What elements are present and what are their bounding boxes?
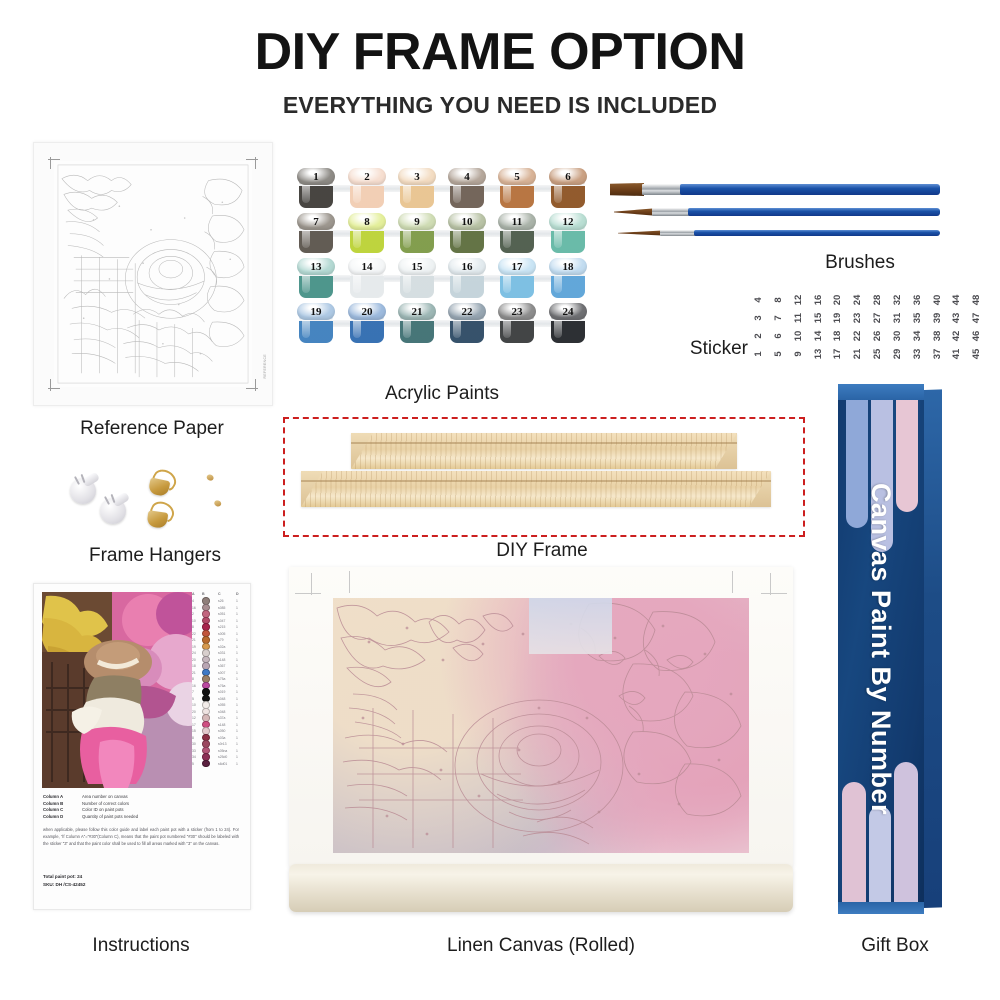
paint-pot-3: 3 [398, 168, 436, 210]
legend-cell-c: s0r13 [218, 742, 236, 746]
paint-pot-number: 2 [348, 168, 386, 185]
legend-cell-a: 20 [192, 658, 202, 662]
legend-cell-a: 18 [192, 664, 202, 668]
paint-pot-number: 14 [348, 258, 386, 275]
sticker-number: 7 [769, 308, 787, 328]
canvas-sky-region [529, 598, 612, 654]
preview-artwork-svg [42, 592, 192, 788]
d-ring-1 [148, 468, 179, 499]
paint-pot-20: 20 [348, 303, 386, 345]
paint-pot-rail [303, 185, 581, 192]
sticker-number: 22 [848, 326, 866, 346]
legend-cell-a: 15 [192, 729, 202, 733]
sticker-number-grid: 4812162024283236404448371115192327313539… [748, 291, 986, 363]
legend-cell-c: s005 [218, 632, 236, 636]
sticker-number: 34 [908, 326, 926, 346]
paint-pot-18: 18 [549, 258, 587, 300]
paint-pot-row: 192021222324 [297, 303, 587, 345]
legend-cell-d: 1 [236, 762, 244, 766]
legend-row: 34s25d01 [192, 753, 244, 760]
legend-row: 5s0481 [192, 695, 244, 702]
frame-bar-2 [301, 471, 771, 507]
legend-cell-d: 1 [236, 729, 244, 733]
legend-row: 22s0051 [192, 630, 244, 637]
paint-pot-row: 123456 [297, 168, 587, 210]
legend-cell-c: s215 [218, 625, 236, 629]
gift-box-label: Canvas Paint By Number [838, 384, 924, 914]
legend-row: 21s791 [192, 636, 244, 643]
paint-pot-number: 17 [498, 258, 536, 275]
legend-cell-a: 34 [192, 755, 202, 759]
legend-cell-a: 10 [192, 619, 202, 623]
legend-header-d: D [236, 592, 244, 596]
legend-cell-a: 8 [192, 625, 202, 629]
legend-row: 10s0551 [192, 701, 244, 708]
paint-pot-rail [303, 230, 581, 237]
sticker-number: 16 [808, 290, 826, 310]
sticker-number: 35 [908, 308, 926, 328]
canvas-rolled-edge [289, 864, 793, 912]
brush-bristle-fine [618, 230, 662, 236]
caption-instructions: Instructions [33, 935, 249, 957]
paint-pot-rail [303, 275, 581, 282]
diy-frame-highlight [283, 417, 805, 537]
legend-row: 33s05na1 [192, 747, 244, 754]
sticker-number: 44 [947, 290, 965, 310]
legend-cell-a: 4 [192, 599, 202, 603]
sticker-number: 28 [868, 290, 886, 310]
caption-frame-hangers: Frame Hangers [55, 545, 255, 567]
canvas-sheet [289, 567, 793, 867]
legend-cell-a: 16 [192, 684, 202, 688]
sticker-number: 12 [789, 290, 807, 310]
legend-cell-d: 1 [236, 710, 244, 714]
paint-pot-row: 131415161718 [297, 258, 587, 300]
caption-acrylic-paints: Acrylic Paints [297, 383, 587, 405]
paint-pot-8: 8 [348, 213, 386, 255]
sticker-number: 47 [967, 308, 985, 328]
total-paint-pot-label: Total paint pot: [43, 874, 76, 879]
instruction-column-key: Column A [43, 794, 77, 801]
legend-cell-a: 8 [192, 736, 202, 740]
legend-cell-a: 16 [192, 606, 202, 610]
paint-pot-number: 3 [398, 168, 436, 185]
sticker-number: 45 [967, 344, 985, 364]
sticker-number: 48 [967, 290, 985, 310]
legend-row: 30s0r131 [192, 740, 244, 747]
sticker-number: 10 [789, 326, 807, 346]
legend-cell-c: s05na [218, 749, 236, 753]
sticker-number: 19 [828, 308, 846, 328]
instruction-column-key: Column B [43, 801, 77, 808]
sticker-number: 38 [927, 326, 945, 346]
legend-row: 7s0191 [192, 688, 244, 695]
legend-cell-d: 1 [236, 599, 244, 603]
sticker-number: 9 [789, 344, 807, 364]
paint-pot-number: 18 [549, 258, 587, 275]
legend-cell-a: 10 [192, 703, 202, 707]
paint-pot-5: 5 [498, 168, 536, 210]
paint-pot-number: 11 [498, 213, 536, 230]
paint-pot-1: 1 [297, 168, 335, 210]
legend-cell-a: 21 [192, 671, 202, 675]
legend-row: 20s0481 [192, 708, 244, 715]
sticker-number: 39 [927, 308, 945, 328]
legend-row: 15s0501 [192, 727, 244, 734]
legend-row: 8s03a1 [192, 734, 244, 741]
legend-cell-a: 33 [192, 749, 202, 753]
sticker-number: 21 [848, 344, 866, 364]
paint-pot-14: 14 [348, 258, 386, 300]
paint-pot-16: 16 [448, 258, 486, 300]
sticker-number: 24 [848, 290, 866, 310]
sticker-number: 4 [749, 290, 767, 310]
paint-pot-number: 6 [549, 168, 587, 185]
canvas-printed-outline [333, 598, 749, 853]
brush-bristle-flat [610, 183, 644, 196]
legend-cell-a: 2 [192, 612, 202, 616]
legend-cell-c: s26 [218, 599, 236, 603]
legend-cell-a: 7 [192, 690, 202, 694]
instruction-column-row: Column DQuantity of paint pots needed [43, 814, 239, 821]
product-infographic: DIY FRAME OPTION EVERYTHING YOU NEED IS … [0, 0, 1000, 1000]
paint-pot-23: 23 [498, 303, 536, 345]
gift-box: Canvas Paint By Number [838, 384, 942, 914]
paint-pot-row: 789101112 [297, 213, 587, 255]
legend-cell-d: 1 [236, 651, 244, 655]
paint-pot-21: 21 [398, 303, 436, 345]
sticker-number: 6 [769, 326, 787, 346]
total-paint-pot-line: Total paint pot: 24 [43, 873, 239, 881]
legend-cell-c: s085 [218, 606, 236, 610]
instruction-column-row: Column BNumber of correct colors [43, 801, 239, 808]
sticker-number: 29 [888, 344, 906, 364]
d-ring-2 [146, 500, 175, 529]
instruction-column-desc: Quantity of paint pots needed [82, 814, 138, 821]
legend-cell-c: s37a [218, 716, 236, 720]
instructions-body-text: when applicable, please follow this colo… [43, 827, 239, 848]
wall-hook-1 [70, 474, 100, 504]
legend-cell-d: 1 [236, 625, 244, 629]
legend-cell-a: 12 [192, 716, 202, 720]
sticker-number: 13 [808, 344, 826, 364]
legend-row: 10s0471 [192, 617, 244, 624]
paint-pot-number: 9 [398, 213, 436, 230]
legend-cell-d: 1 [236, 742, 244, 746]
instruction-column-row: Column CColor ID on paint pots [43, 807, 239, 814]
legend-row: 21s0071 [192, 669, 244, 676]
brush-handle-medium [688, 208, 940, 216]
paint-pot-number: 24 [549, 303, 587, 320]
paint-pot-13: 13 [297, 258, 335, 300]
instruction-column-desc: Area number on canvas [82, 794, 128, 801]
legend-cell-c: s055 [218, 703, 236, 707]
caption-sticker: Sticker [662, 338, 748, 360]
legend-cell-c: s148 [218, 723, 236, 727]
linen-canvas-rolled [289, 567, 793, 912]
legend-cell-a: 5 [192, 697, 202, 701]
sku-label: SKU: [43, 882, 54, 887]
screw-1 [200, 473, 214, 493]
legend-cell-c: s25d0 [218, 755, 236, 759]
paint-pot-2: 2 [348, 168, 386, 210]
legend-cell-a: 19 [192, 645, 202, 649]
wall-hook-2 [100, 494, 130, 524]
legend-cell-d: 1 [236, 755, 244, 759]
gift-box-side [924, 389, 942, 908]
sticker-number: 31 [888, 308, 906, 328]
legend-cell-c: s048 [218, 710, 236, 714]
paint-pot-rail [303, 320, 581, 327]
legend-row: 8s75a1 [192, 675, 244, 682]
sku-value: DH /CS-42452 [56, 882, 86, 887]
frame-bar-1 [351, 433, 737, 469]
sticker-number: 46 [967, 326, 985, 346]
instruction-column-key: Column D [43, 814, 77, 821]
legend-row: 5s6d011 [192, 760, 244, 767]
paint-pot-24: 24 [549, 303, 587, 345]
paint-pot-22: 22 [448, 303, 486, 345]
brush-handle-fine [694, 230, 940, 236]
gift-box-front: Canvas Paint By Number [838, 384, 924, 914]
legend-cell-c: s019 [218, 690, 236, 694]
legend-row: 4s261 [192, 597, 244, 604]
sticker-number: 42 [947, 326, 965, 346]
legend-cell-a: 21 [192, 638, 202, 642]
legend-cell-a: 5 [192, 762, 202, 766]
legend-row: 12s37a1 [192, 714, 244, 721]
paint-pot-4: 4 [448, 168, 486, 210]
legend-row: 17s1481 [192, 721, 244, 728]
instructions-color-legend: A B C D 4s26116s08512s051110s04718s21512… [192, 592, 244, 788]
legend-cell-a: 8 [192, 677, 202, 681]
sticker-number: 37 [927, 344, 945, 364]
sticker-number: 30 [888, 326, 906, 346]
legend-row: 8s2151 [192, 623, 244, 630]
legend-cell-a: 17 [192, 723, 202, 727]
paint-pot-number: 10 [448, 213, 486, 230]
sticker-number: 2 [749, 326, 767, 346]
sticker-number: 15 [808, 308, 826, 328]
caption-reference-paper: Reference Paper [33, 418, 271, 440]
legend-header-b: B [202, 592, 218, 596]
legend-cell-c: s367 [218, 664, 236, 668]
legend-cell-d: 1 [236, 658, 244, 662]
brush-ferrule-medium [652, 208, 690, 216]
paint-pot-number: 13 [297, 258, 335, 275]
legend-cell-c: s050 [218, 729, 236, 733]
sticker-number: 14 [808, 326, 826, 346]
legend-header-a: A [192, 592, 202, 596]
legend-cell-d: 1 [236, 632, 244, 636]
paint-pot-number: 21 [398, 303, 436, 320]
brush-flat [610, 184, 940, 195]
paint-pot-12: 12 [549, 213, 587, 255]
brush-ferrule-fine [660, 230, 696, 236]
paint-pot-10: 10 [448, 213, 486, 255]
sticker-number: 26 [868, 326, 886, 346]
instruction-column-desc: Color ID on paint pots [82, 807, 124, 814]
legend-header-c: C [218, 592, 236, 596]
sticker-number: 18 [828, 326, 846, 346]
legend-cell-d: 1 [236, 716, 244, 720]
sticker-number: 27 [868, 308, 886, 328]
legend-row: 16s0851 [192, 604, 244, 611]
paint-pot-11: 11 [498, 213, 536, 255]
legend-cell-a: 30 [192, 742, 202, 746]
instruction-column-row: Column AArea number on canvas [43, 794, 239, 801]
legend-cell-d: 1 [236, 677, 244, 681]
sticker-number: 1 [749, 344, 767, 364]
legend-cell-c: s031 [218, 651, 236, 655]
sticker-number: 23 [848, 308, 866, 328]
paint-pot-number: 12 [549, 213, 587, 230]
sticker-number: 41 [947, 344, 965, 364]
legend-cell-d: 1 [236, 671, 244, 675]
legend-cell-d: 1 [236, 723, 244, 727]
sticker-number: 8 [769, 290, 787, 310]
legend-row: 24s0311 [192, 649, 244, 656]
instruction-column-desc: Number of correct colors [82, 801, 129, 808]
paint-pot-number: 19 [297, 303, 335, 320]
page-title: DIY FRAME OPTION [0, 26, 1000, 78]
legend-cell-d: 1 [236, 612, 244, 616]
legend-cell-d: 1 [236, 749, 244, 753]
brush-round-medium [614, 208, 940, 216]
paint-pot-15: 15 [398, 258, 436, 300]
instructions-footer: Total paint pot: 24 SKU: DH /CS-42452 [43, 873, 239, 890]
frame-hangers-group [62, 468, 247, 540]
paint-pot-17: 17 [498, 258, 536, 300]
paint-pot-number: 22 [448, 303, 486, 320]
legend-cell-c: s6d01 [218, 762, 236, 766]
legend-cell-a: 22 [192, 632, 202, 636]
legend-row: 18s3671 [192, 662, 244, 669]
paint-pot-number: 16 [448, 258, 486, 275]
legend-cell-a: 24 [192, 651, 202, 655]
screw-2 [209, 499, 222, 519]
sticker-number: 11 [789, 308, 807, 328]
legend-cell-c: s148 [218, 658, 236, 662]
reference-paper-side-code: REFERENCE [263, 354, 267, 379]
legend-cell-d: 1 [236, 684, 244, 688]
legend-cell-d: 1 [236, 697, 244, 701]
legend-cell-d: 1 [236, 690, 244, 694]
legend-cell-a: 20 [192, 710, 202, 714]
legend-cell-c: s02a [218, 645, 236, 649]
reference-paper: REFERENCE [33, 142, 273, 406]
lineart-svg [54, 161, 252, 387]
legend-rows: 4s26116s08512s051110s04718s215122s005121… [192, 597, 244, 766]
legend-cell-d: 1 [236, 736, 244, 740]
legend-row: 20s1481 [192, 656, 244, 663]
legend-cell-c: s03a [218, 736, 236, 740]
page-subtitle: EVERYTHING YOU NEED IS INCLUDED [0, 92, 1000, 119]
paint-pot-19: 19 [297, 303, 335, 345]
legend-header-row: A B C D [192, 592, 244, 596]
caption-gift-box: Gift Box [820, 935, 970, 957]
paint-pot-number: 7 [297, 213, 335, 230]
instruction-column-key: Column C [43, 807, 77, 814]
acrylic-paints-group: 123456789101112131415161718192021222324 [297, 168, 587, 348]
sticker-number: 20 [828, 290, 846, 310]
sticker-number: 17 [828, 344, 846, 364]
legend-row: 19s02a1 [192, 643, 244, 650]
paint-pot-7: 7 [297, 213, 335, 255]
legend-cell-d: 1 [236, 619, 244, 623]
brush-round-fine [618, 230, 940, 236]
brush-ferrule-flat [642, 184, 682, 195]
paint-pot-number: 5 [498, 168, 536, 185]
sticker-number: 36 [908, 290, 926, 310]
color-swatch [202, 760, 210, 768]
legend-cell-c: s047 [218, 619, 236, 623]
total-paint-pot-value: 24 [77, 874, 82, 879]
paint-pot-number: 1 [297, 168, 335, 185]
sticker-number: 33 [908, 344, 926, 364]
sticker-number: 5 [769, 344, 787, 364]
instructions-preview-image [42, 592, 192, 788]
sticker-number: 40 [927, 290, 945, 310]
paint-pot-number: 8 [348, 213, 386, 230]
legend-row: 16s76a1 [192, 682, 244, 689]
legend-row: 2s0511 [192, 610, 244, 617]
legend-cell-c: s79 [218, 638, 236, 642]
sticker-number: 25 [868, 344, 886, 364]
paint-pot-9: 9 [398, 213, 436, 255]
paint-pot-6: 6 [549, 168, 587, 210]
paint-pot-number: 23 [498, 303, 536, 320]
caption-diy-frame: DIY Frame [283, 540, 801, 562]
legend-cell-d: 1 [236, 606, 244, 610]
sticker-number: 43 [947, 308, 965, 328]
brush-handle-flat [680, 184, 940, 195]
legend-cell-d: 1 [236, 664, 244, 668]
instructions-column-key: Column AArea number on canvasColumn BNum… [43, 794, 239, 821]
sticker-number: 32 [888, 290, 906, 310]
legend-cell-c: s048 [218, 697, 236, 701]
instructions-card: A B C D 4s26116s08512s051110s04718s21512… [33, 583, 251, 910]
legend-cell-d: 1 [236, 703, 244, 707]
caption-linen-canvas: Linen Canvas (Rolled) [289, 935, 793, 957]
legend-cell-c: s007 [218, 671, 236, 675]
paint-pot-number: 20 [348, 303, 386, 320]
legend-cell-swatch [202, 760, 218, 769]
sku-line: SKU: DH /CS-42452 [43, 881, 239, 889]
paint-pot-number: 4 [448, 168, 486, 185]
reference-paper-lineart [54, 161, 252, 387]
legend-cell-d: 1 [236, 645, 244, 649]
sticker-sheet: 4812162024283236404448371115192327313539… [748, 291, 986, 363]
legend-cell-c: s051 [218, 612, 236, 616]
brush-bristle-medium [614, 208, 654, 216]
sticker-number: 3 [749, 308, 767, 328]
caption-brushes: Brushes [770, 252, 950, 274]
legend-cell-d: 1 [236, 638, 244, 642]
legend-cell-c: s75a [218, 677, 236, 681]
legend-cell-c: s76a [218, 684, 236, 688]
paint-pot-number: 15 [398, 258, 436, 275]
